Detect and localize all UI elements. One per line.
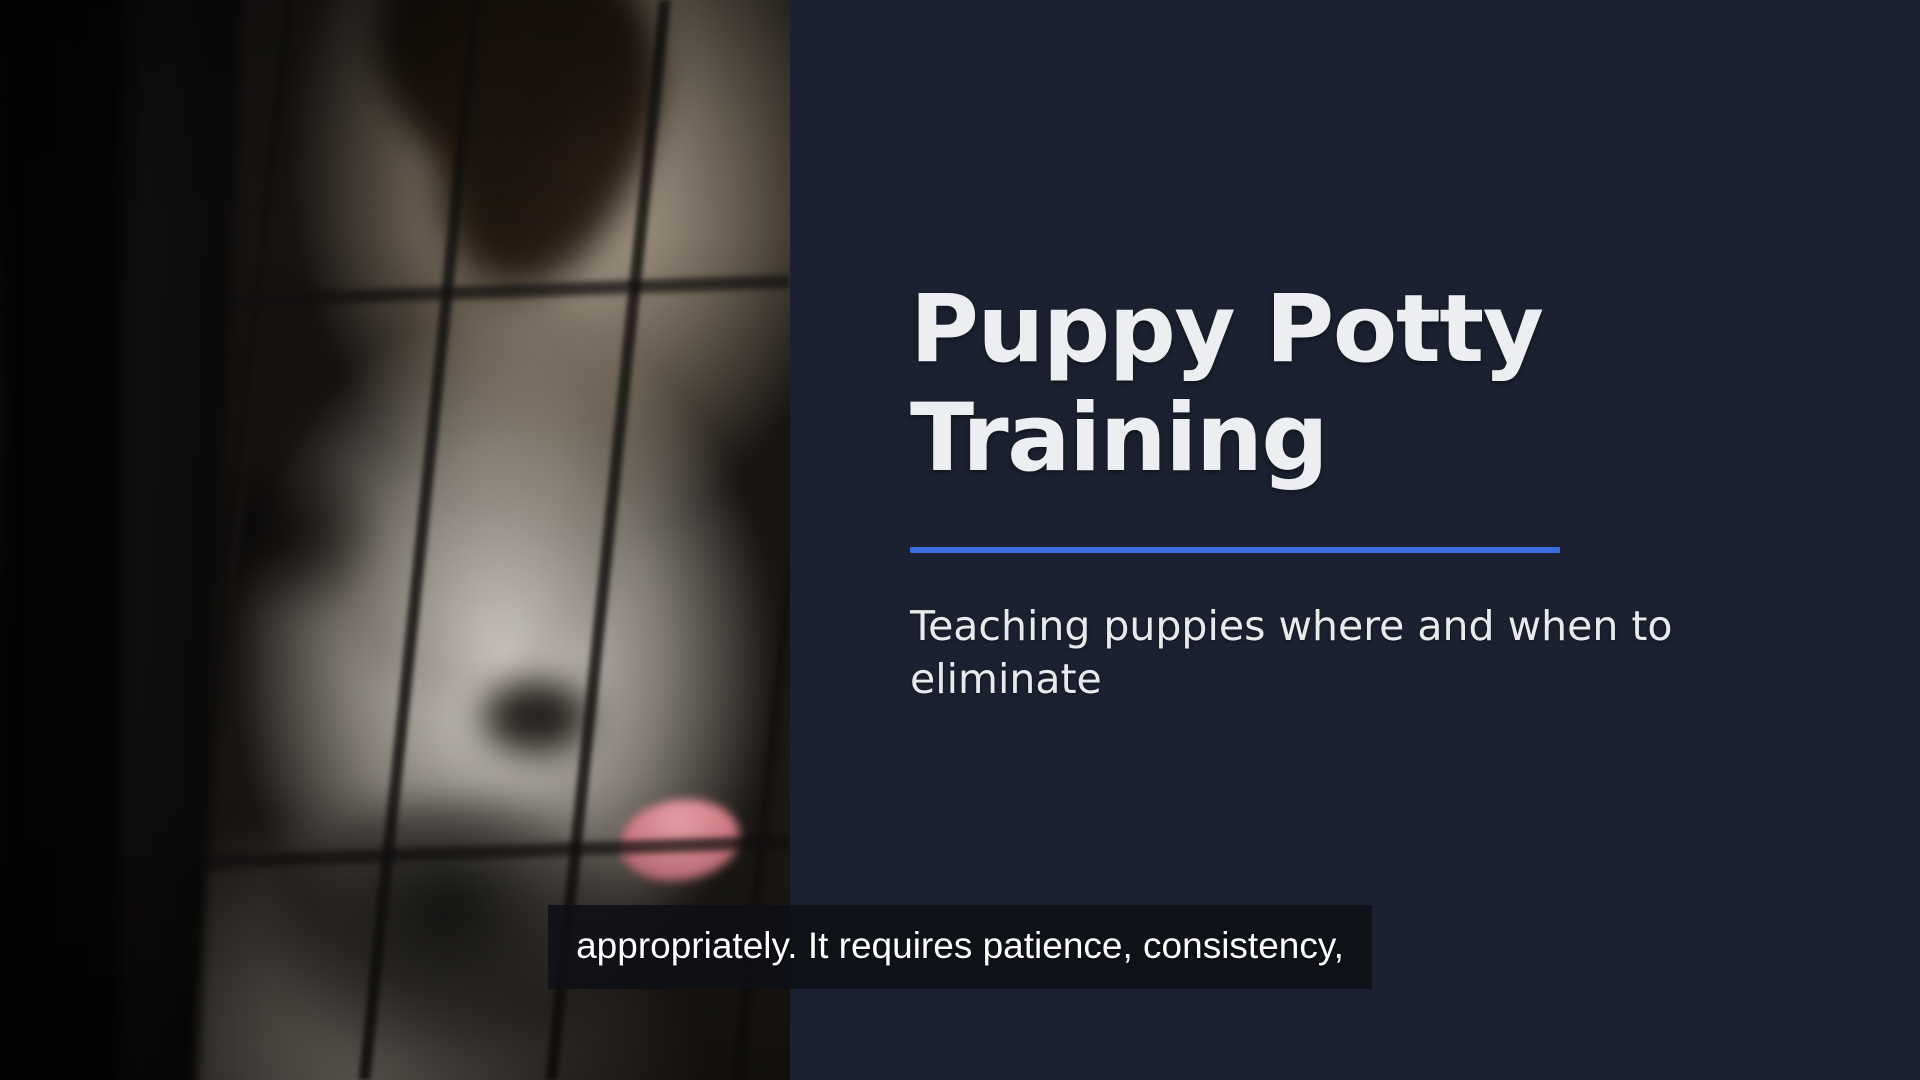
slide-subtitle: Teaching puppies where and when to elimi… bbox=[910, 600, 1810, 705]
video-slide: Puppy Potty Training Teaching puppies wh… bbox=[0, 0, 1920, 1080]
accent-divider bbox=[910, 547, 1560, 553]
slide-title: Puppy Potty Training bbox=[910, 275, 1630, 493]
subtitle-caption: appropriately. It requires patience, con… bbox=[548, 905, 1372, 989]
title-panel-content: Puppy Potty Training Teaching puppies wh… bbox=[910, 275, 1810, 705]
